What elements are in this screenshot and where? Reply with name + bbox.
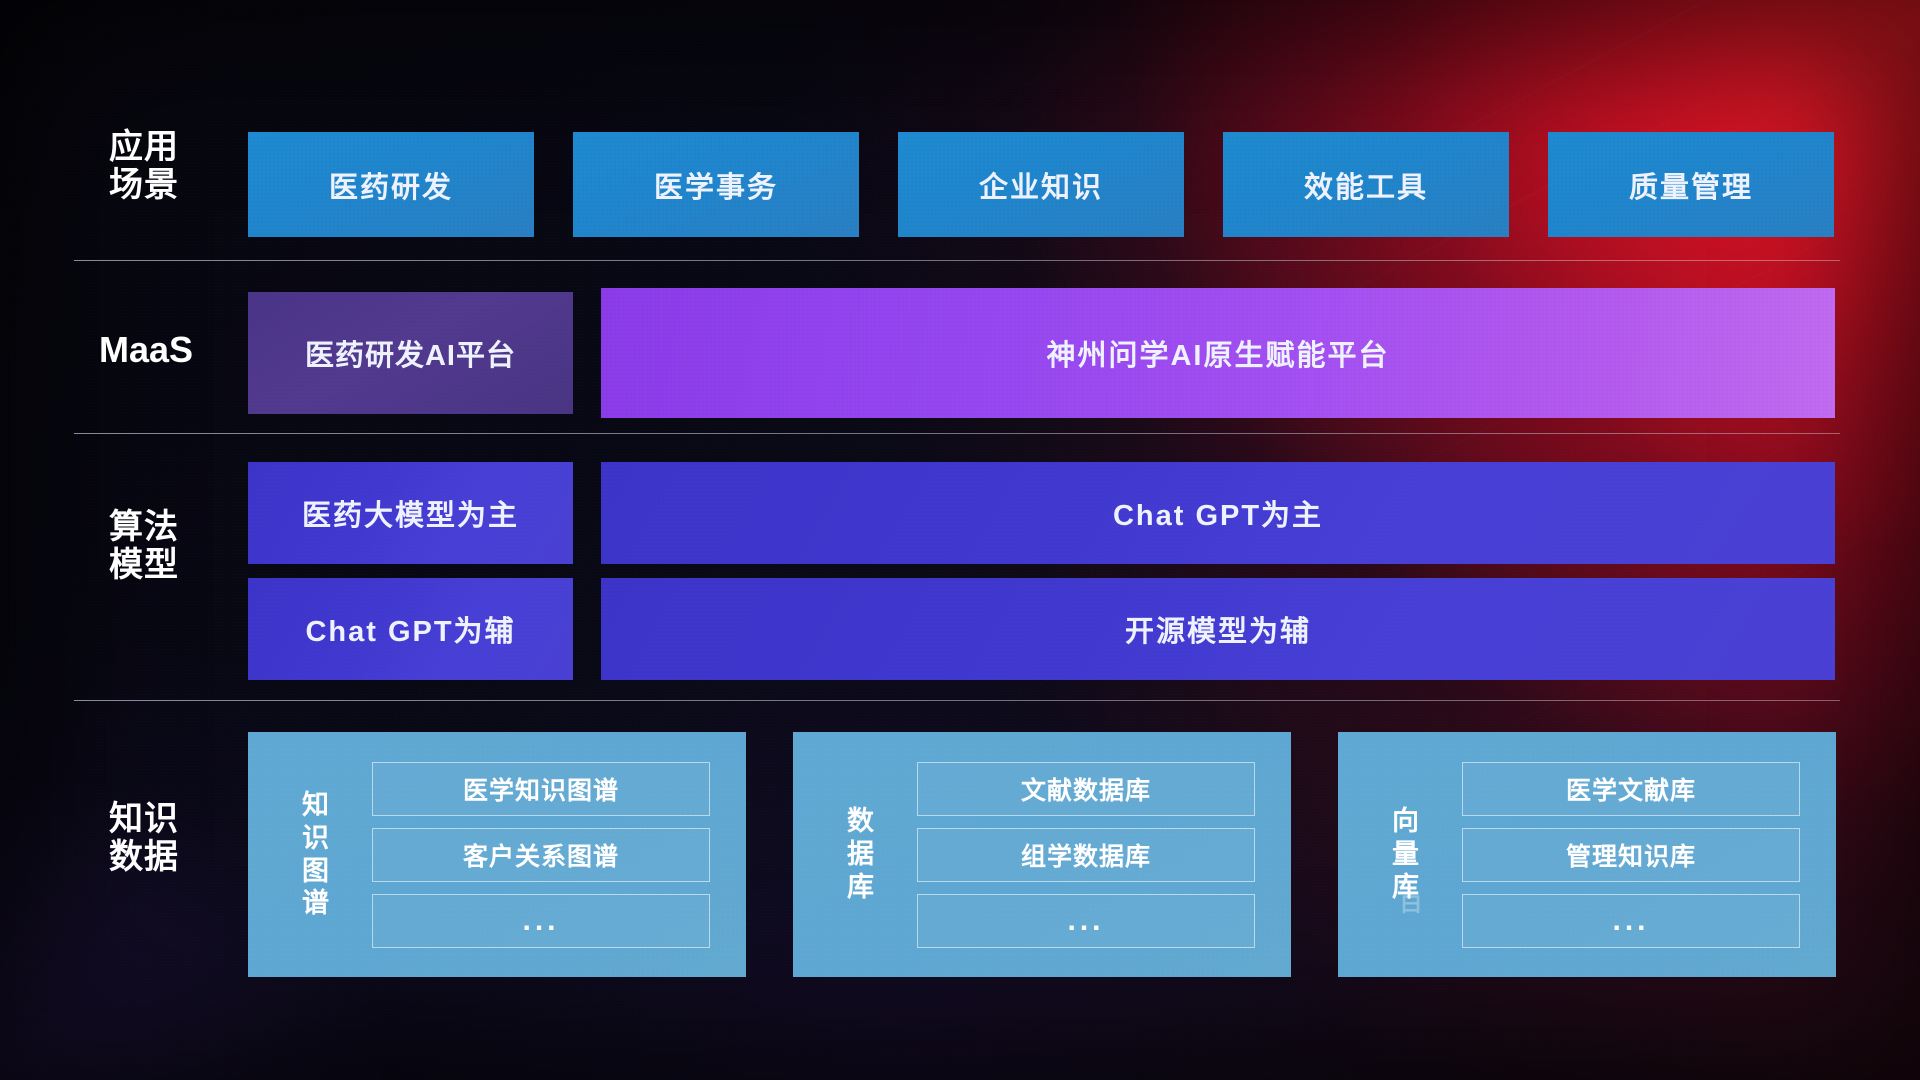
application-box-5[interactable]: 质量管理 [1548,132,1834,237]
knowledge-panel-title: 数 据 库 [813,805,909,904]
knowledge-item-list: 文献数据库 组学数据库 ... [917,762,1255,948]
diagram-content: 应用 场景 MaaS 算法 模型 知识 数据 医药研发 医学事务 企业知识 效能… [0,0,1920,1080]
application-box-2[interactable]: 医学事务 [573,132,859,237]
algorithm-box-chatgpt-secondary[interactable]: Chat GPT为辅 [248,578,573,680]
algorithm-box-medical-llm[interactable]: 医药大模型为主 [248,462,573,564]
knowledge-item[interactable]: 文献数据库 [917,762,1255,816]
maas-box-shenzhou-platform[interactable]: 神州问学AI原生赋能平台 [601,288,1835,418]
knowledge-item[interactable]: 医学知识图谱 [372,762,710,816]
divider-after-algorithm [74,700,1840,701]
row-label-algorithm-models: 算法 模型 [74,508,214,584]
knowledge-panel-title: 知 识 图 谱 [268,789,364,921]
algorithm-box-label: 医药大模型为主 [302,492,519,534]
application-box-label: 效能工具 [1304,164,1428,206]
knowledge-panel-vector-store[interactable]: 白 向 量 库 医学文献库 管理知识库 ... [1338,732,1836,977]
application-box-label: 质量管理 [1629,164,1753,206]
row-label-application-scenarios: 应用 场景 [74,128,214,204]
divider-after-application [74,260,1840,261]
application-box-3[interactable]: 企业知识 [898,132,1184,237]
knowledge-item[interactable]: 组学数据库 [917,828,1255,882]
divider-after-maas [74,433,1840,434]
watermark-text: 白 [1400,886,1425,918]
maas-box-medical-platform[interactable]: 医药研发AI平台 [248,292,573,414]
application-box-1[interactable]: 医药研发 [248,132,534,237]
knowledge-item[interactable]: 客户关系图谱 [372,828,710,882]
knowledge-item[interactable]: 医学文献库 [1462,762,1800,816]
knowledge-item[interactable]: 管理知识库 [1462,828,1800,882]
algorithm-box-label: Chat GPT为辅 [305,608,515,650]
application-box-label: 企业知识 [979,164,1103,206]
algorithm-box-chatgpt-primary[interactable]: Chat GPT为主 [601,462,1835,564]
maas-box-label: 医药研发AI平台 [305,332,516,374]
knowledge-item-more[interactable]: ... [1462,894,1800,948]
knowledge-item-list: 医学知识图谱 客户关系图谱 ... [372,762,710,948]
algorithm-box-label: 开源模型为辅 [1125,608,1311,650]
algorithm-box-opensource-secondary[interactable]: 开源模型为辅 [601,578,1835,680]
row-label-maas: MaaS [70,330,222,370]
slide-canvas: 应用 场景 MaaS 算法 模型 知识 数据 医药研发 医学事务 企业知识 效能… [0,0,1920,1080]
knowledge-panel-knowledge-graph[interactable]: 知 识 图 谱 医学知识图谱 客户关系图谱 ... [248,732,746,977]
knowledge-panel-database[interactable]: 数 据 库 文献数据库 组学数据库 ... [793,732,1291,977]
application-box-4[interactable]: 效能工具 [1223,132,1509,237]
application-box-label: 医药研发 [329,164,453,206]
algorithm-box-label: Chat GPT为主 [1113,492,1323,534]
maas-box-label: 神州问学AI原生赋能平台 [1046,332,1389,374]
application-box-label: 医学事务 [654,164,778,206]
knowledge-item-more[interactable]: ... [917,894,1255,948]
row-label-knowledge-data: 知识 数据 [74,800,214,876]
knowledge-item-more[interactable]: ... [372,894,710,948]
knowledge-item-list: 医学文献库 管理知识库 ... [1462,762,1800,948]
